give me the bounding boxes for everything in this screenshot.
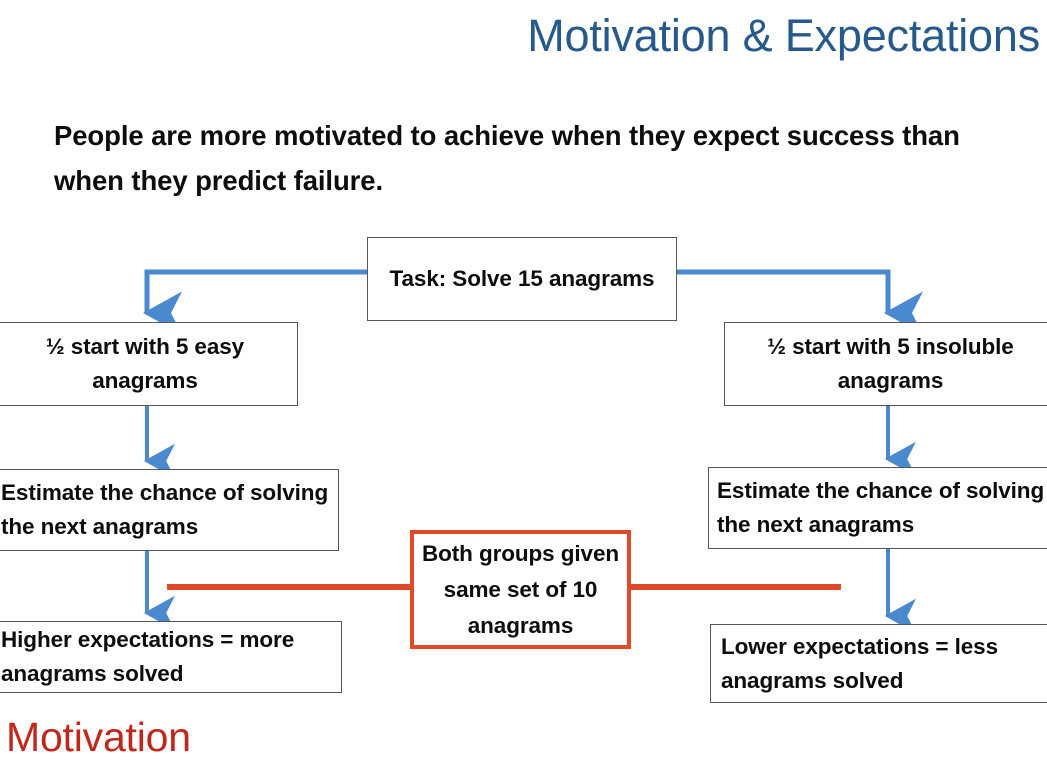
flow-box-branch-easy: ½ start with 5 easy anagrams bbox=[0, 322, 298, 406]
flow-box-estimate-right: Estimate the chance of solving the next … bbox=[708, 467, 1047, 549]
flow-box-estimate-left: Estimate the chance of solving the next … bbox=[0, 469, 339, 551]
flow-box-shared-anagram-set: Both groups given same set of 10 anagram… bbox=[410, 530, 631, 649]
flow-box-branch-insoluble: ½ start with 5 insoluble anagrams bbox=[724, 322, 1047, 406]
slide-canvas: Motivation & Expectations People are mor… bbox=[0, 0, 1047, 778]
flow-box-task: Task: Solve 15 anagrams bbox=[367, 237, 677, 321]
flow-box-outcome-lower: Lower expectations = less anagrams solve… bbox=[710, 624, 1047, 703]
flow-box-outcome-higher: Higher expectations = more anagrams solv… bbox=[0, 621, 342, 693]
